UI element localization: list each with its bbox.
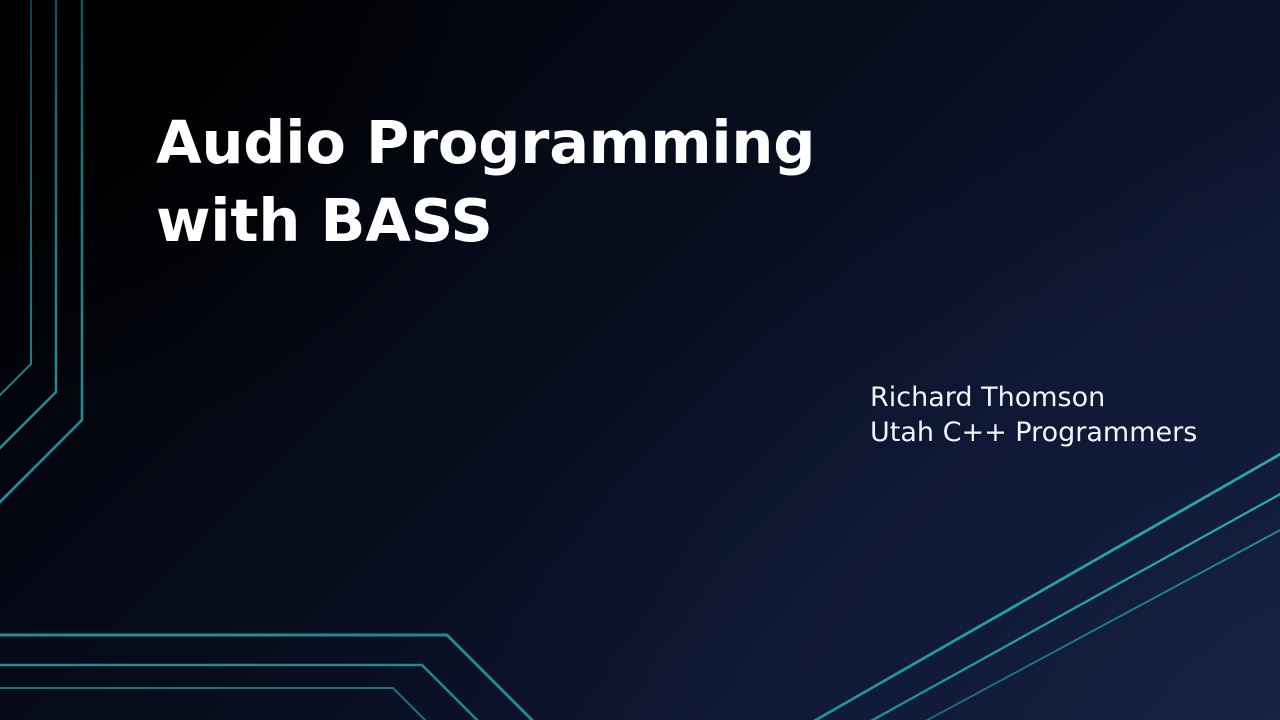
- presenter-name: Richard Thomson: [870, 380, 1250, 415]
- circuit-trace-br-1: [760, 452, 1280, 720]
- circuit-trace-tl-1: [0, 0, 31, 435]
- circuit-trace-bl-1: [0, 635, 820, 720]
- circuit-trace-bl-3: [0, 688, 740, 720]
- presenter-group: Utah C++ Programmers: [870, 415, 1250, 450]
- circuit-trace-br-3: [868, 528, 1280, 720]
- circuit-trace-tl-3: [0, 0, 82, 542]
- title-slide: Audio Programming with BASS Richard Thom…: [0, 0, 1280, 720]
- slide-title: Audio Programming with BASS: [156, 104, 916, 260]
- slide-title-line-2: with BASS: [156, 182, 916, 260]
- circuit-trace-bl-2: [0, 665, 780, 720]
- slide-title-line-1: Audio Programming: [156, 104, 916, 182]
- slide-subtitle: Richard Thomson Utah C++ Programmers: [870, 380, 1250, 450]
- circuit-trace-tl-2: [0, 0, 56, 488]
- circuit-trace-br-2: [815, 492, 1280, 720]
